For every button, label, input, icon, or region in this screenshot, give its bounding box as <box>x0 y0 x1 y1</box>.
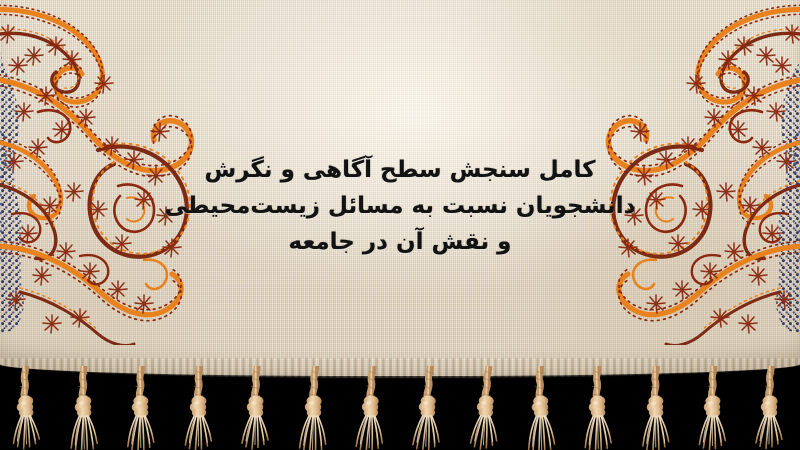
tassel <box>465 365 508 450</box>
tassel <box>636 366 678 450</box>
tassel <box>520 365 563 450</box>
title-card-canvas: کامل سنجش سطح آگاهی و نگرش دانشجویان نسب… <box>0 0 800 450</box>
title-line-1: کامل سنجش سطح آگاهی و نگرش <box>0 152 800 188</box>
tassel <box>694 366 735 450</box>
tassel <box>751 366 791 450</box>
knotted-tassel-fringe <box>0 366 800 450</box>
tassel <box>121 366 163 450</box>
tassel <box>237 366 277 450</box>
tassel <box>6 365 49 450</box>
tassel <box>578 365 621 450</box>
title-line-3: و نقش آن در جامعه <box>0 224 800 260</box>
tassel <box>294 366 335 450</box>
tassel <box>408 365 451 450</box>
page-title: کامل سنجش سطح آگاهی و نگرش دانشجویان نسب… <box>0 152 800 260</box>
tassel <box>351 366 393 450</box>
tassel <box>64 365 107 450</box>
tassel <box>179 366 220 450</box>
title-line-2: دانشجویان نسبت به مسائل زیست‌محیطی <box>0 188 800 224</box>
